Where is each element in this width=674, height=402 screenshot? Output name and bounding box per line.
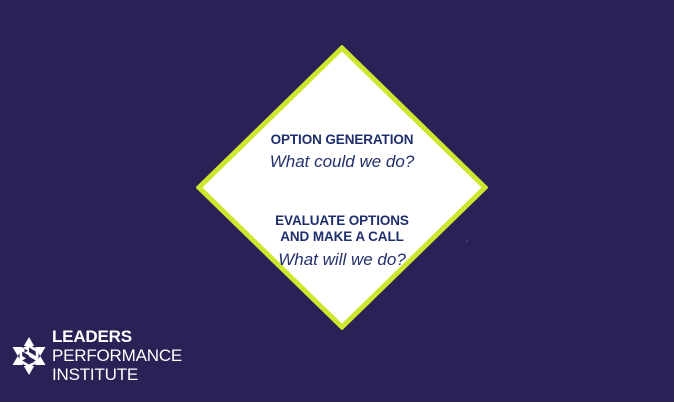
option-generation-question: What could we do? — [196, 151, 488, 173]
slide-canvas: OPTION GENERATION What could we do? EVAL… — [0, 0, 674, 402]
leaders-performance-institute-logo: LEADERS PERFORMANCE INSTITUTE — [12, 328, 182, 384]
evaluate-options-block: EVALUATE OPTIONS AND MAKE A CALL What wi… — [196, 213, 488, 271]
diamond-shape — [196, 45, 488, 330]
diamond-svg — [196, 45, 488, 330]
evaluate-options-heading-line-2: AND MAKE A CALL — [196, 229, 488, 245]
logo-line-performance: PERFORMANCE — [52, 346, 182, 365]
evaluate-options-question: What will we do? — [196, 249, 488, 271]
logo-wordmark: LEADERS PERFORMANCE INSTITUTE — [52, 328, 182, 384]
logo-line-leaders: LEADERS — [52, 328, 182, 346]
background-speck — [466, 240, 468, 242]
option-generation-heading: OPTION GENERATION — [196, 132, 488, 148]
option-generation-block: OPTION GENERATION What could we do? — [196, 132, 488, 173]
logo-line-institute: INSTITUTE — [52, 365, 182, 384]
diamond-polygon — [199, 48, 485, 327]
evaluate-options-heading-line-1: EVALUATE OPTIONS — [196, 213, 488, 229]
leaders-star-mark-icon — [12, 336, 46, 376]
